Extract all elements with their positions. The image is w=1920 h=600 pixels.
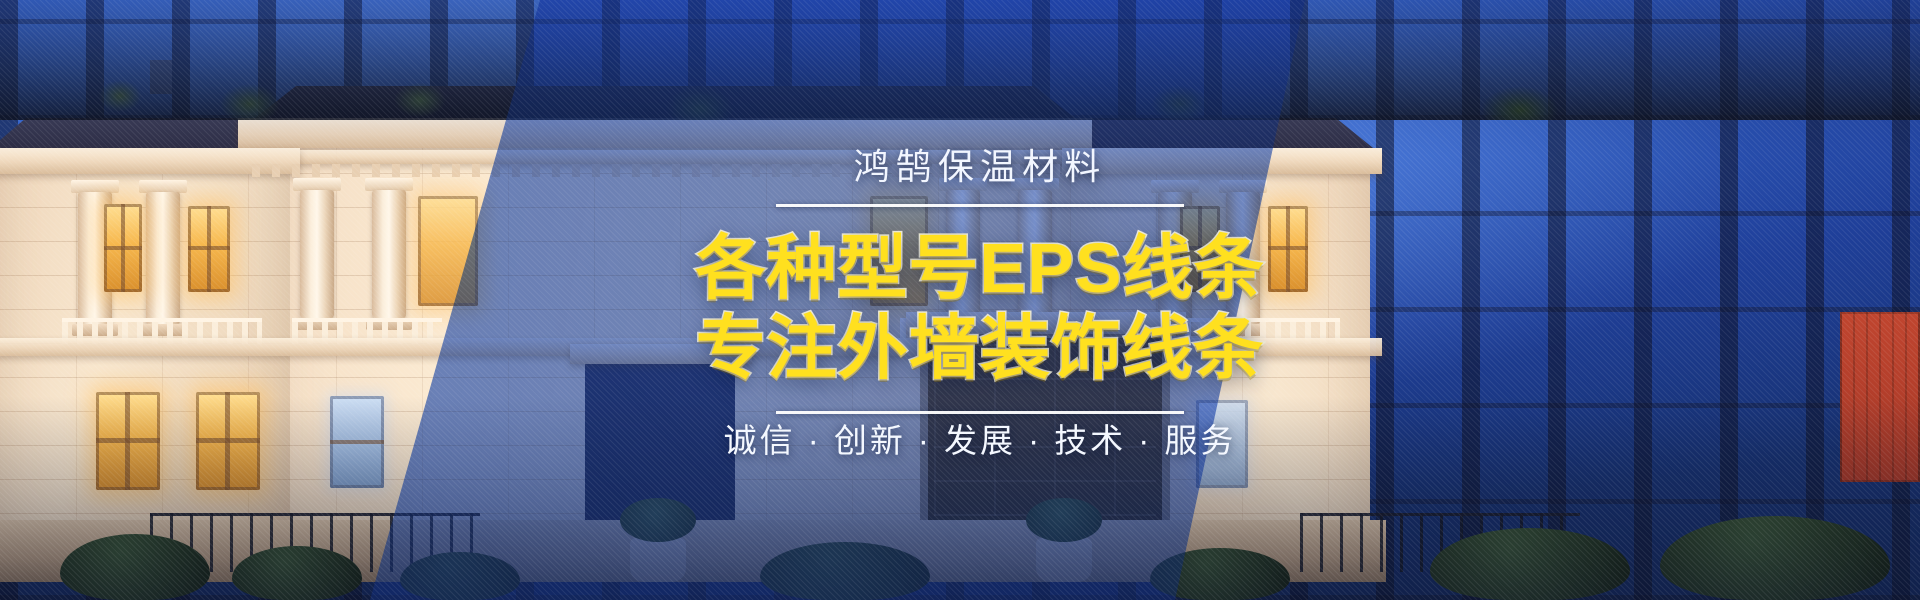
values-tagline: 诚信 · 创新 · 发展 · 技术 · 服务 <box>724 414 1237 462</box>
divider-top <box>776 204 1184 207</box>
hero-banner: 鸿鹄保温材料 各种型号EPS线条 专注外墙装饰线条 诚信 · 创新 · 发展 ·… <box>0 0 1920 600</box>
banner-copy: 鸿鹄保温材料 各种型号EPS线条 专注外墙装饰线条 诚信 · 创新 · 发展 ·… <box>0 0 1920 600</box>
divider-bottom <box>776 411 1184 414</box>
headline-line-2: 专注外墙装饰线条 <box>696 309 1264 389</box>
company-name: 鸿鹄保温材料 <box>854 138 1107 190</box>
headline-line-1: 各种型号EPS线条 <box>695 229 1265 309</box>
